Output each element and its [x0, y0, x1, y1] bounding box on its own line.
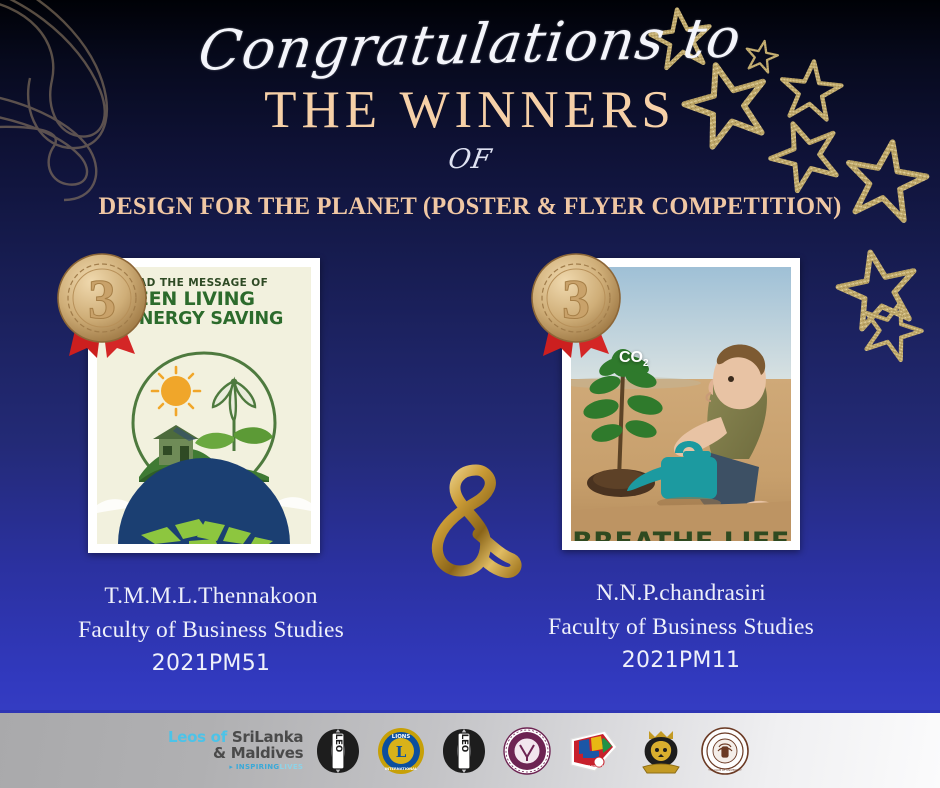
- purple-circular-emblem-icon: [503, 727, 551, 775]
- of-connector-word: OF: [0, 144, 940, 175]
- winner-caption-1: T.M.M.L.Thennakoon Faculty of Business S…: [46, 581, 376, 680]
- leos-of-srilanka-maldives-wordmark: Leos of SriLanka & Maldives ▸ INSPIRINGL…: [168, 730, 303, 771]
- svg-text:3: 3: [562, 269, 590, 331]
- brown-circular-seal-emblem-icon: THE CLUB OF UNIVERSITY: [701, 727, 749, 775]
- leo-lion-head-emblem-2-icon: LEO: [439, 726, 489, 776]
- winner-caption-2: N.N.P.chandrasiri Faculty of Business St…: [516, 578, 846, 677]
- svg-text:THE CLUB OF UNIVERSITY: THE CLUB OF UNIVERSITY: [709, 768, 743, 772]
- leos-word-line2: & Maldives: [213, 746, 303, 761]
- leos-word-line3b: LIVES: [279, 763, 303, 771]
- leos-word-line3a: ▸ INSPIRING: [229, 763, 279, 771]
- winner-entry-1: SPREAD THE MESSAGE OF GREEN LIVING & ENE…: [88, 258, 338, 680]
- winner-index-no-1: 2021PM51: [46, 648, 376, 680]
- winner-entry-2: O2 CO2 BREATHE LIFE: [562, 258, 812, 677]
- poster-headings: Congratulations to THE WINNERS OF DESIGN…: [0, 0, 940, 221]
- third-place-medal-icon-1: 3: [53, 246, 151, 362]
- artwork-2-caption: BREATHE LIFE: [571, 529, 791, 541]
- svg-text:L: L: [396, 743, 407, 761]
- gold-lion-crest-emblem-icon: [635, 727, 687, 775]
- page-title: THE WINNERS: [0, 80, 940, 140]
- artwork-frame-1: SPREAD THE MESSAGE OF GREEN LIVING & ENE…: [88, 258, 320, 553]
- winner-faculty-1: Faculty of Business Studies: [46, 613, 376, 648]
- leo-lion-head-emblem-icon: LEO: [313, 726, 363, 776]
- ampersand-separator: [418, 462, 522, 590]
- congratulations-poster: Congratulations to THE WINNERS OF DESIGN…: [0, 0, 940, 788]
- partner-logos: Leos of SriLanka & Maldives ▸ INSPIRINGL…: [168, 726, 749, 776]
- svg-text:LEO: LEO: [459, 733, 469, 751]
- lions-international-emblem-icon: L LIONS INTERNATIONAL: [377, 727, 425, 775]
- winner-faculty-2: Faculty of Business Studies: [516, 610, 846, 645]
- svg-text:3: 3: [88, 269, 116, 331]
- winner-name-1: T.M.M.L.Thennakoon: [46, 581, 376, 613]
- winner-name-2: N.N.P.chandrasiri: [516, 578, 846, 610]
- third-place-medal-icon-2: 3: [527, 246, 625, 362]
- svg-text:LEO: LEO: [333, 733, 343, 751]
- artwork-frame-2: O2 CO2 BREATHE LIFE: [562, 258, 800, 550]
- competition-name: DESIGN FOR THE PLANET (POSTER & FLYER CO…: [19, 191, 921, 221]
- winner-index-no-2: 2021PM11: [516, 645, 846, 677]
- footer-logo-bar: Leos of SriLanka & Maldives ▸ INSPIRINGL…: [0, 710, 940, 788]
- svg-text:INTERNATIONAL: INTERNATIONAL: [385, 767, 418, 771]
- multicolor-shield-emblem-icon: LEO DISTRICT: [565, 727, 621, 775]
- svg-text:LEO DISTRICT: LEO DISTRICT: [585, 764, 603, 768]
- svg-text:LIONS: LIONS: [392, 734, 411, 740]
- congratulations-script-heading: Congratulations to: [0, 5, 940, 86]
